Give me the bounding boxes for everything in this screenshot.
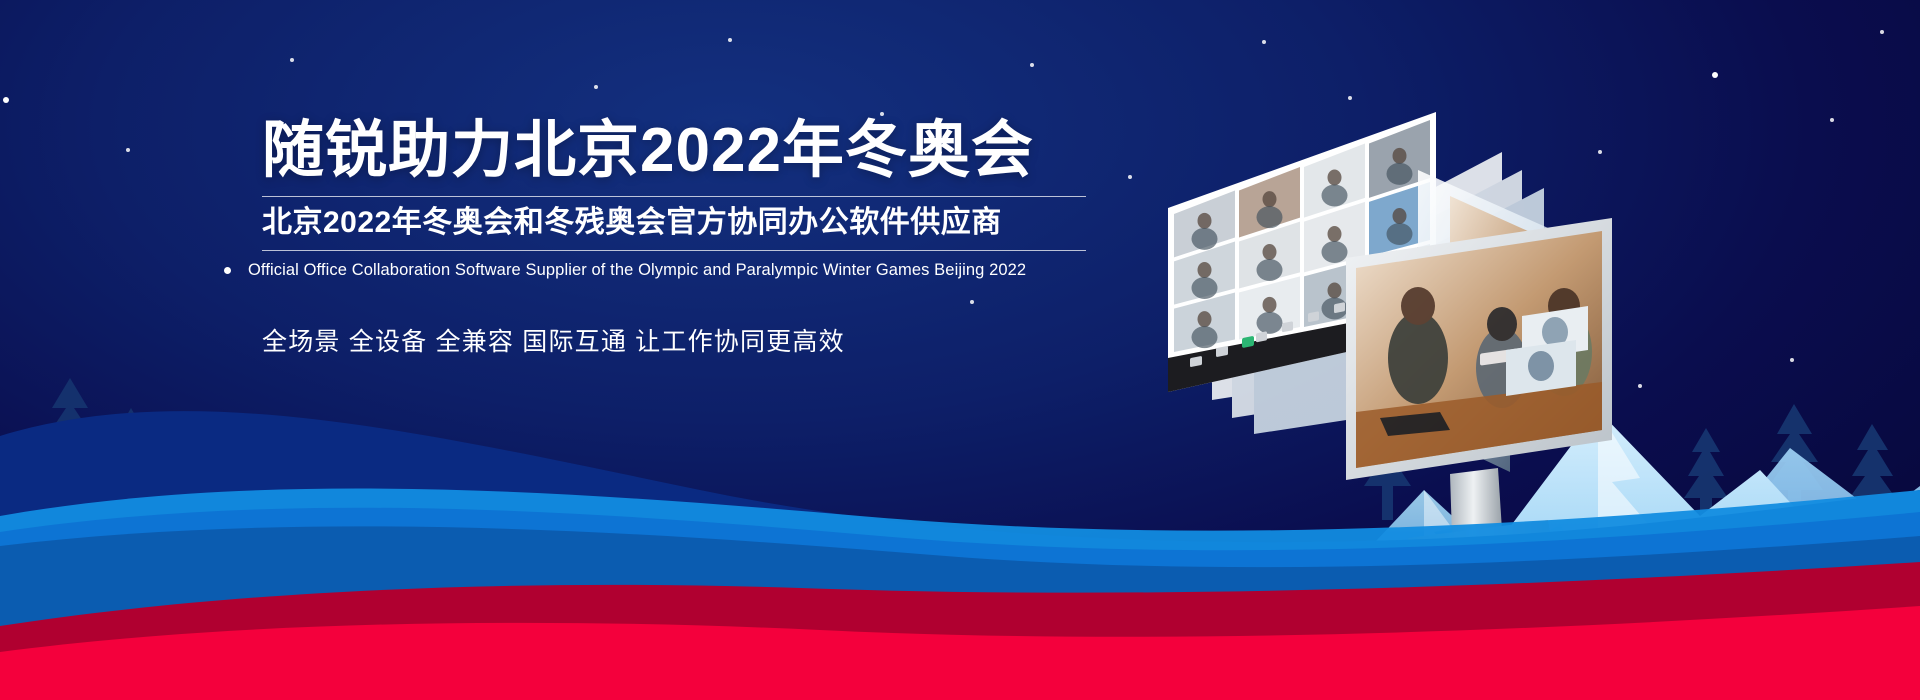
participant-body <box>1192 228 1218 250</box>
banner-subtitle: 北京2022年冬奥会和冬残奥会官方协同办公软件供应商 <box>262 203 1162 242</box>
participant-avatar <box>1263 297 1277 313</box>
participant-body <box>1192 277 1218 299</box>
participant-avatar <box>1328 226 1342 242</box>
olympic-promo-banner: 随锐助力北京2022年冬奥会 北京2022年冬奥会和冬残奥会官方协同办公软件供应… <box>0 0 1920 700</box>
english-subtitle: Official Office Collaboration Software S… <box>248 261 1026 280</box>
participant-body <box>1322 241 1348 263</box>
participant-body <box>1257 259 1283 281</box>
participant-avatar <box>1393 208 1407 224</box>
participant-body <box>1387 163 1413 185</box>
participant-avatar <box>1263 244 1277 260</box>
banner-copy: 随锐助力北京2022年冬奥会 北京2022年冬奥会和冬残奥会官方协同办公软件供应… <box>262 118 1162 358</box>
participant-avatar <box>1328 283 1342 299</box>
participant-avatar <box>1393 148 1407 164</box>
page-title: 随锐助力北京2022年冬奥会 <box>262 118 1162 185</box>
participant-body <box>1257 206 1283 228</box>
participant-avatar <box>1198 262 1212 278</box>
dot-bullet-icon <box>224 267 231 274</box>
divider-top <box>262 196 1086 197</box>
participant-avatar <box>1263 191 1277 207</box>
participant-body <box>1387 223 1413 245</box>
participant-avatar <box>1198 213 1212 229</box>
participant-body <box>1257 312 1283 334</box>
participant-avatar <box>1328 170 1342 186</box>
divider-bottom <box>262 250 1086 251</box>
participant-body <box>1322 185 1348 207</box>
wave-decoration <box>0 340 1920 700</box>
participant-avatar <box>1198 311 1212 327</box>
banner-tagline: 全场景 全设备 全兼容 国际互通 让工作协同更高效 <box>262 322 1162 358</box>
english-subtitle-row: Official Office Collaboration Software S… <box>262 261 1162 280</box>
